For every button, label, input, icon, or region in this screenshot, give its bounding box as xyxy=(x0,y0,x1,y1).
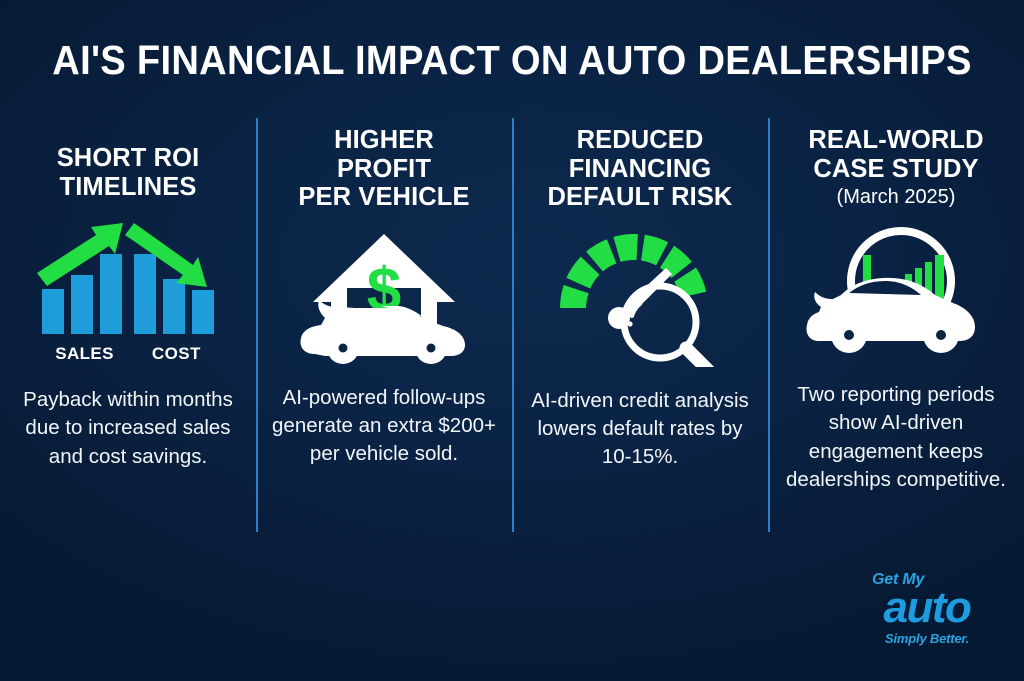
magnifier-icon xyxy=(624,286,714,367)
column-heading: REAL-WORLD CASE STUDY xyxy=(808,126,983,183)
infographic-canvas: AI'S FINANCIAL IMPACT ON AUTO DEALERSHIP… xyxy=(0,0,1024,681)
column-heading-line: PER VEHICLE xyxy=(298,183,469,212)
column-real-world-case-study: REAL-WORLD CASE STUDY (March 2025) xyxy=(768,118,1024,538)
column-heading-line: REDUCED xyxy=(548,126,733,155)
column-reduced-financing-default-risk: REDUCED FINANCING DEFAULT RISK xyxy=(512,118,768,538)
column-heading-line: FINANCING xyxy=(548,155,733,184)
column-short-roi-timelines: SHORT ROI TIMELINES xyxy=(0,118,256,538)
icon-container xyxy=(35,217,221,342)
brand-logo[interactable]: Get My auto Simply Better. xyxy=(856,572,998,645)
columns-container: SHORT ROI TIMELINES xyxy=(0,118,1024,538)
column-heading-line: HIGHER xyxy=(298,126,469,155)
column-subheading: (March 2025) xyxy=(837,185,956,209)
column-body-text: Two reporting periods show AI-driven eng… xyxy=(778,381,1014,494)
column-body-text: AI-driven credit analysis lowers default… xyxy=(522,387,758,472)
circle-growth-chart-car-icon xyxy=(801,223,991,363)
logo-tagline: Simply Better. xyxy=(856,632,998,645)
column-heading-line: SHORT ROI xyxy=(57,144,200,173)
column-body-text: AI-powered follow-ups generate an extra … xyxy=(266,384,502,469)
column-heading-line: PROFIT xyxy=(298,155,469,184)
column-heading-line: DEFAULT RISK xyxy=(548,183,733,212)
house-arrow-dollar-car-icon: $ xyxy=(295,226,473,366)
column-heading: REDUCED FINANCING DEFAULT RISK xyxy=(548,126,733,212)
icon-container xyxy=(801,223,991,363)
gauge-magnifier-icon xyxy=(550,222,730,367)
column-body-text: Payback within months due to increased s… xyxy=(10,386,246,471)
gauge-needle-icon xyxy=(608,268,672,329)
logo-auto-text: auto xyxy=(856,586,998,630)
column-higher-profit-per-vehicle: HIGHER PROFIT PER VEHICLE $ xyxy=(256,118,512,538)
page-title: AI'S FINANCIAL IMPACT ON AUTO DEALERSHIP… xyxy=(36,40,988,81)
icon-container xyxy=(550,222,730,367)
dual-bar-chart-arrows-icon xyxy=(35,217,221,342)
bar-label-cost: COST xyxy=(152,344,201,364)
icon-container: $ xyxy=(295,226,473,366)
bar-chart-legend: SALES COST xyxy=(55,344,201,364)
bar-label-sales: SALES xyxy=(55,344,114,364)
column-heading-line: TIMELINES xyxy=(57,173,200,202)
column-heading-line: REAL-WORLD xyxy=(808,126,983,155)
column-heading-line: CASE STUDY xyxy=(808,155,983,184)
column-heading: HIGHER PROFIT PER VEHICLE xyxy=(298,126,469,212)
column-heading: SHORT ROI TIMELINES xyxy=(57,144,200,201)
